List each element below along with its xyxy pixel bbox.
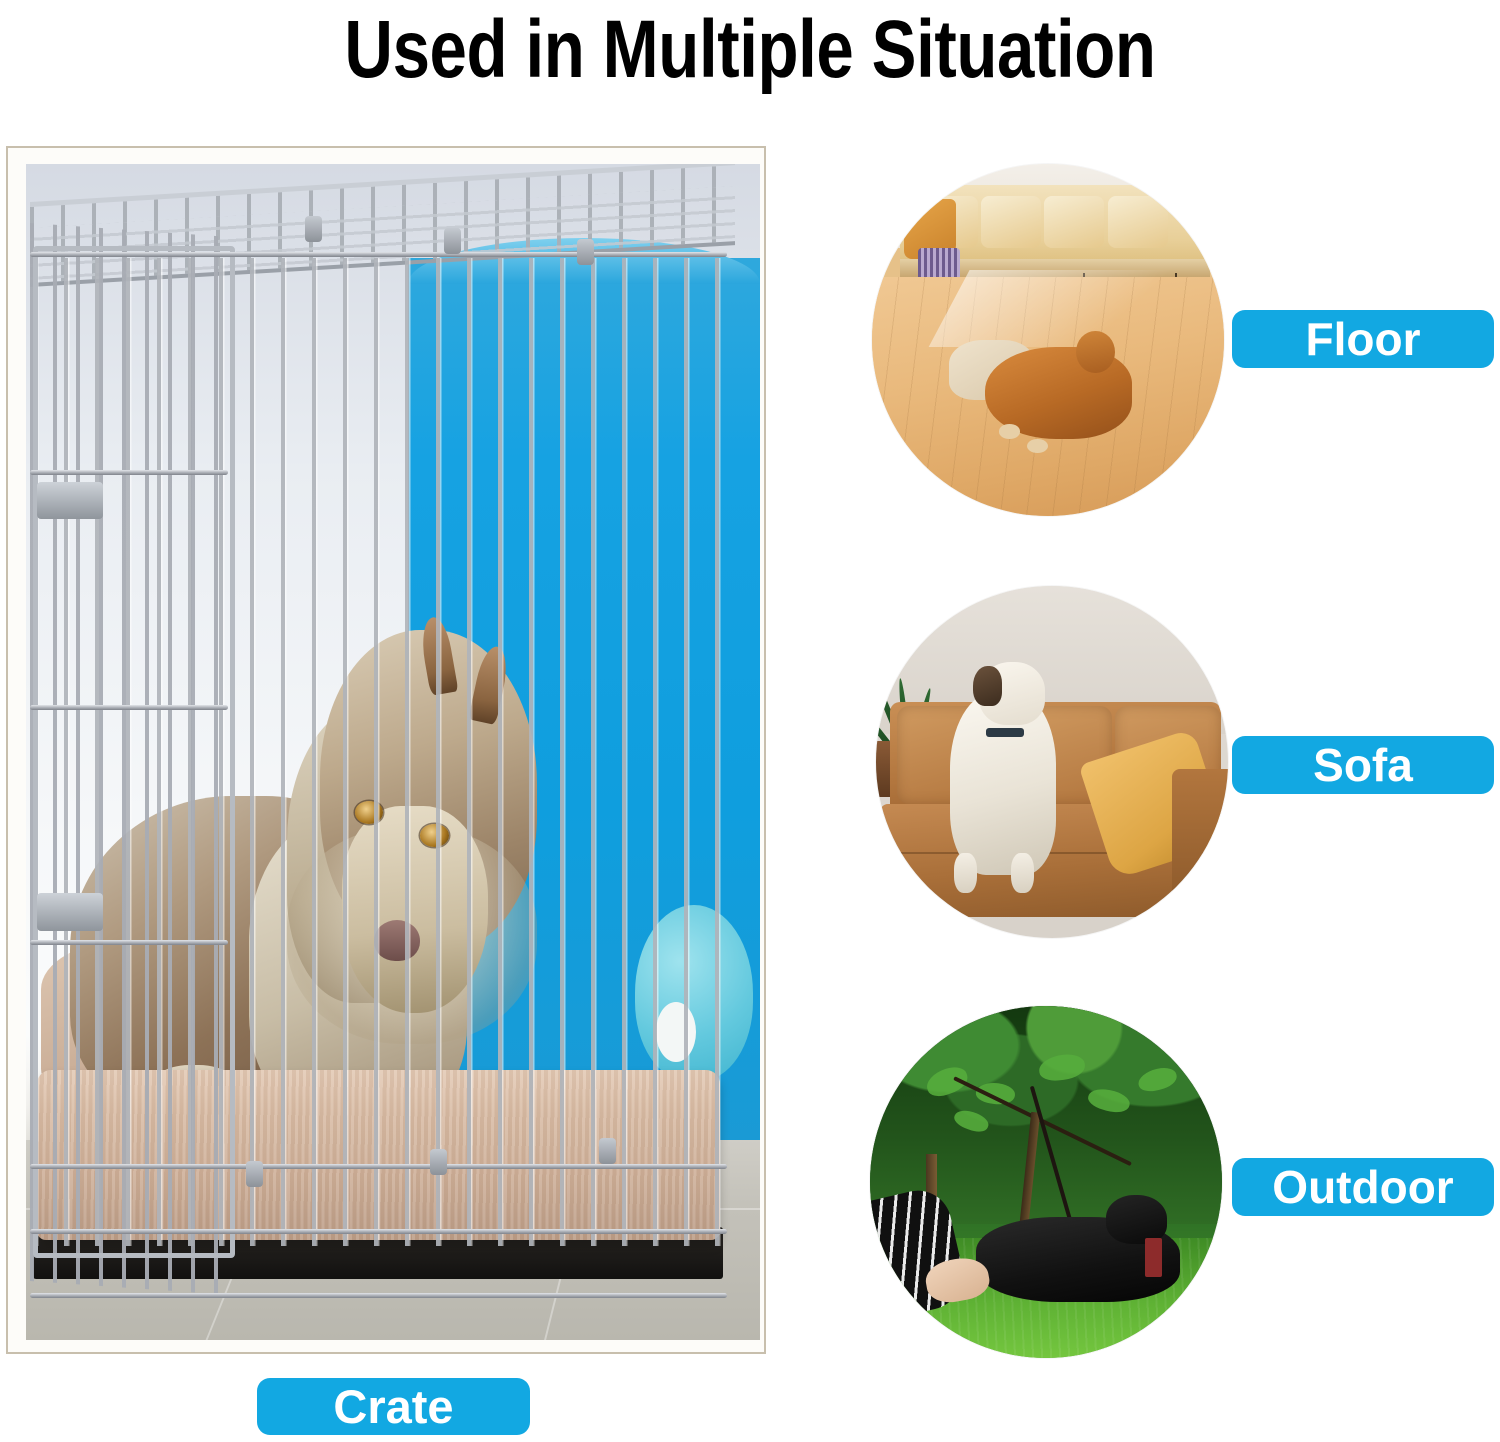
crate-photo-frame bbox=[6, 146, 766, 1354]
dog-collar bbox=[986, 728, 1024, 737]
wire-crate-overlay bbox=[26, 164, 760, 1340]
crate-clip bbox=[246, 1161, 263, 1187]
crate-clip bbox=[305, 216, 322, 242]
crate-horizontal-bar bbox=[30, 252, 727, 257]
crate-latch bbox=[37, 482, 103, 520]
crate-latch bbox=[37, 893, 103, 931]
sunlight-glare bbox=[929, 270, 1217, 347]
sofa-arm bbox=[1172, 769, 1228, 903]
floor-scene-image bbox=[872, 164, 1224, 516]
crate-horizontal-bar bbox=[30, 1229, 727, 1234]
dog-paw bbox=[1027, 439, 1048, 453]
dog-leg bbox=[1011, 853, 1034, 893]
dog-head bbox=[979, 662, 1044, 724]
badge-sofa: Sofa bbox=[1232, 736, 1494, 794]
badge-floor: Floor bbox=[1232, 310, 1494, 368]
sofa-cushion bbox=[1108, 196, 1168, 249]
sofa-scene-image bbox=[876, 586, 1228, 938]
sofa-cushion bbox=[1044, 196, 1104, 249]
dog-paw bbox=[999, 424, 1020, 438]
page-title: Used in Multiple Situation bbox=[135, 2, 1365, 102]
badge-crate: Crate bbox=[257, 1378, 530, 1435]
crate-clip bbox=[444, 228, 461, 254]
crate-scene-image bbox=[26, 164, 760, 1340]
crate-horizontal-bar bbox=[30, 470, 228, 475]
poodle-mix-dog bbox=[950, 692, 1056, 875]
dog-leg bbox=[954, 853, 977, 893]
sofa-cushion bbox=[981, 196, 1041, 249]
crate-horizontal-bar bbox=[30, 940, 228, 945]
badge-outdoor: Outdoor bbox=[1232, 1158, 1494, 1216]
dog-collar bbox=[1145, 1238, 1163, 1277]
crate-clip bbox=[599, 1138, 616, 1164]
crate-clip bbox=[430, 1149, 447, 1175]
outdoor-scene-image bbox=[870, 1006, 1222, 1358]
crate-horizontal-bar bbox=[30, 1293, 727, 1298]
crate-horizontal-bar bbox=[30, 705, 228, 710]
crate-clip bbox=[577, 239, 594, 265]
crate-horizontal-bar bbox=[30, 1164, 727, 1169]
crate-door-frame bbox=[33, 246, 235, 1257]
